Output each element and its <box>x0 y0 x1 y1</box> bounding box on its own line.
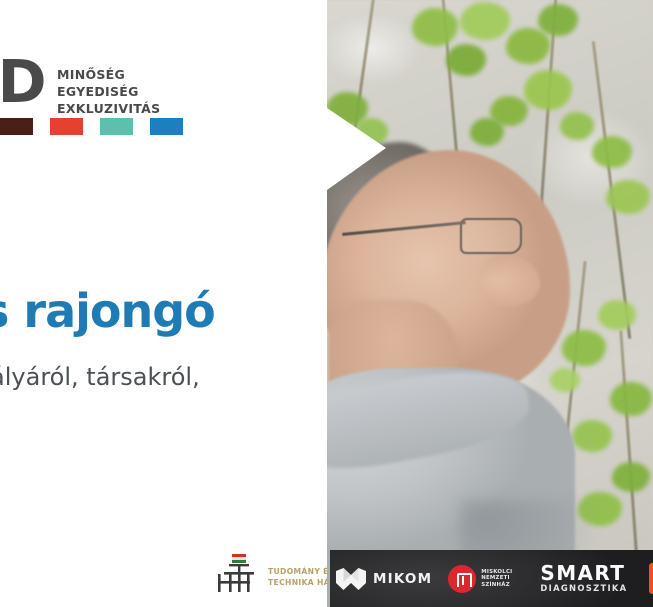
hth-monogram-icon <box>216 554 262 596</box>
sponsor-smart-diagnosztika: SMART DIAGNOSZTIKA <box>540 563 627 594</box>
miskolci-theatre-label: MISKOLCI NEMZETI SZÍNHÁZ <box>481 569 512 589</box>
brand-tagline-line-2: EGYEDISÉG <box>57 83 160 100</box>
ivy-leaf <box>412 8 458 46</box>
swatch-red <box>50 118 83 135</box>
swatch-maroon <box>0 118 33 135</box>
ivy-leaf <box>470 118 504 146</box>
ivy-leaf <box>506 28 550 64</box>
brand-tagline: MINŐSÉG EGYEDISÉG EXKLUZIVITÁS <box>57 66 160 117</box>
ivy-leaf <box>524 70 572 110</box>
ivy-leaf <box>610 382 652 416</box>
sponsor-miskolci-nemzeti-szinhaz: MISKOLCI NEMZETI SZÍNHÁZ <box>448 565 512 593</box>
ivy-leaf <box>446 44 486 76</box>
ivy-leaf <box>538 4 578 36</box>
portrait-photo <box>310 0 653 607</box>
brand-logo: AD MINŐSÉG EGYEDISÉG EXKLUZIVITÁS <box>0 52 194 144</box>
ivy-leaf <box>572 420 612 452</box>
sponsor-mikom: MIKOM <box>336 568 432 590</box>
ivy-leaf <box>562 330 606 366</box>
brand-tagline-line-1: MINŐSÉG <box>57 66 160 83</box>
mnsz-line-2: NEMZETI <box>481 575 512 582</box>
sponsor-fps: fps <box>649 563 653 594</box>
mikom-label: MIKOM <box>373 571 432 587</box>
swatch-blue <box>150 118 183 135</box>
ivy-leaf <box>612 462 650 492</box>
mikom-logo-icon <box>336 568 366 590</box>
hth-logo: TUDOMÁNY ÉS TECHNIKA HÁZA <box>216 554 342 596</box>
miskolci-theatre-icon <box>448 565 476 593</box>
swatch-teal <box>100 118 133 135</box>
sponsor-bar: MIKOM MISKOLCI NEMZETI SZÍNHÁZ SMART DIA… <box>330 550 653 607</box>
ivy-leaf <box>560 112 594 140</box>
eyeglasses <box>342 218 522 256</box>
ivy-leaf <box>592 136 632 168</box>
smart-label: SMART <box>540 563 627 583</box>
eyeglass-temple <box>342 221 466 236</box>
ivy-leaf <box>460 2 510 40</box>
promo-slide: AD MINŐSÉG EGYEDISÉG EXKLUZIVITÁS …yi, …… <box>0 0 653 607</box>
diagnosztika-label: DIAGNOSZTIKA <box>540 583 627 594</box>
ivy-leaf <box>598 300 636 330</box>
brand-color-swatches <box>0 118 183 135</box>
ivy-leaf <box>606 180 650 214</box>
mnsz-line-3: SZÍNHÁZ <box>481 582 512 589</box>
mnsz-line-1: MISKOLCI <box>481 569 512 576</box>
brand-wordmark: AD <box>0 52 45 112</box>
brand-tagline-line-3: EXKLUZIVITÁS <box>57 100 160 117</box>
fps-logo-icon: fps <box>649 563 653 594</box>
ivy-leaf <box>550 368 580 392</box>
eyeglass-lens <box>460 218 522 254</box>
